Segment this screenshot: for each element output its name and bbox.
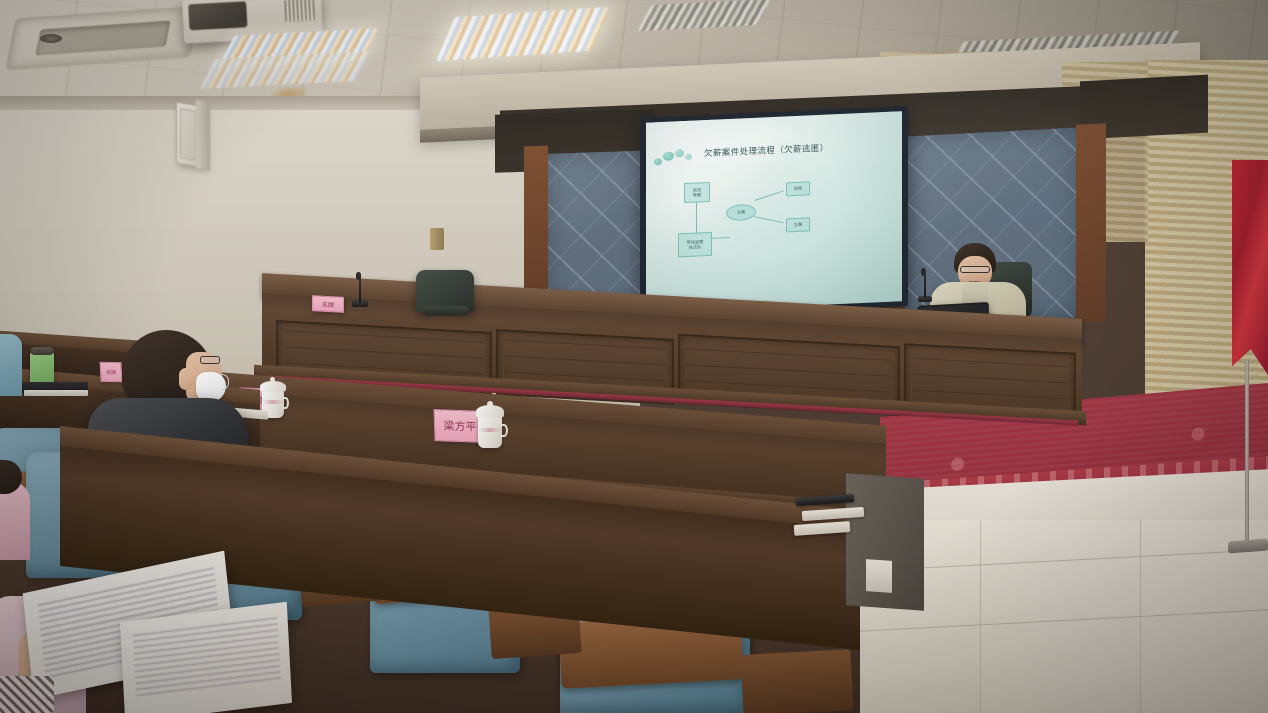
green-bottle-cap: [31, 347, 53, 355]
projector-body-dark: [188, 1, 247, 30]
teacup-left-knob: [270, 377, 275, 382]
projector-lens: [40, 34, 62, 43]
green-water-bottle: [30, 352, 54, 384]
projection-screen: 欠薪案件处理流程（欠薪逃匿） 信访 举报 劳动监察 执法队 立案 协商 立案: [646, 111, 902, 313]
podium-mic-stem: [359, 278, 361, 302]
mic-stem: [924, 274, 926, 298]
tile-seam-4: [1140, 520, 1141, 713]
lecture-hall-photo: 欠薪案件处理流程（欠薪逃匿） 信访 举报 劳动监察 执法队 立案 协商 立案: [0, 0, 1268, 713]
teacup-center-handle: [500, 424, 508, 437]
far-left-seat-back[interactable]: [0, 334, 22, 396]
teacup-center-body: [478, 416, 502, 448]
red-flag: [1232, 160, 1268, 375]
podium-mic-head: [356, 272, 361, 280]
teacup-left-pattern: [263, 400, 283, 404]
teacup-center-knob: [487, 401, 493, 407]
projector-vent: [284, 0, 315, 22]
podium-chair-seat: [424, 306, 468, 316]
attendee-glasses: [200, 356, 220, 364]
presenter-glasses: [960, 266, 990, 273]
placard-far-left: 名牌: [99, 362, 122, 382]
screen-vignette: [646, 111, 902, 313]
notebook-left-pages: [24, 390, 88, 396]
placard-podium-left: 名牌: [312, 295, 344, 313]
reader-document-text-right: [132, 613, 280, 697]
reader-sleeve-pattern: [0, 676, 54, 713]
tile-seam-3: [980, 520, 981, 713]
seat-armrest-3: [740, 649, 853, 713]
mic-head: [921, 268, 926, 276]
teacup-left-handle: [282, 397, 289, 409]
teacup-center-pattern: [479, 428, 501, 432]
attendee-ear: [179, 368, 194, 390]
flag-pole: [1245, 360, 1249, 550]
teacup-left-lid: [260, 381, 286, 392]
wall-outlet-box: [430, 228, 444, 250]
panel-frame-right: [1076, 123, 1106, 323]
cabinet-label: [866, 559, 892, 593]
projector-mount: [241, 0, 258, 1]
reader-document-right-page: [120, 602, 292, 713]
tile-seam-2: [860, 609, 1268, 631]
speaker-grille: [180, 108, 196, 161]
speaker-bracket: [196, 100, 210, 171]
